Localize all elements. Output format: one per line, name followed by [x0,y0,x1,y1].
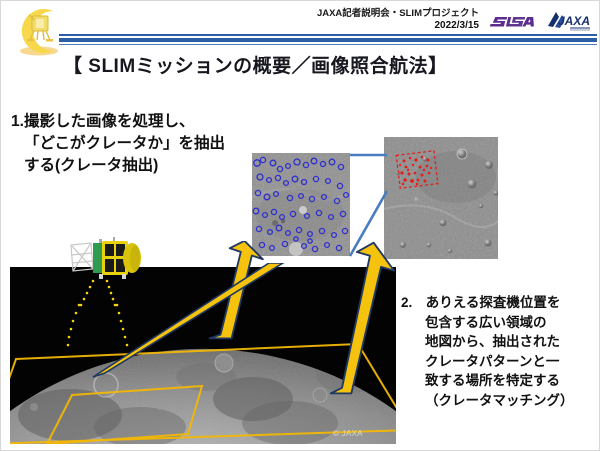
bullet-item-1: 1.撮影した画像を処理し、 「どこがクレータか」を抽出 する(クレータ抽出) [11,111,251,177]
bullet-1-number: 1. [11,113,24,130]
header-rule-middle [59,38,597,42]
slim-lander-illustration [59,237,159,307]
image-credit: © JAXA [333,429,363,438]
bullet-2-line-6: （クレータマッチング） [401,391,600,411]
bullet-2-line-4: クレータパターンと一 [401,352,600,372]
header-date: 2022/3/15 [317,20,479,32]
bullet-1-line-3: する(クレータ抽出) [11,155,251,177]
bullet-1-line-1: 撮影した画像を処理し、 [24,113,195,130]
header-org-line: JAXA記者説明会・SLIMプロジェクト [317,9,479,20]
slide-canvas: JAXA記者説明会・SLIMプロジェクト 2022/3/15 JAXA 【 [0,0,600,451]
isas-logo [488,14,538,30]
bullet-2-line-5: 致する場所を特定する [401,371,600,391]
slim-crescent-moon-logo [9,5,69,57]
bullet-2-line-1: ありえる探査機位置を [426,295,561,310]
bullet-item-2: 2. ありえる探査機位置を 包含する広い領域の 地図から、抽出された クレータパ… [401,293,600,410]
header-rule-bottom [59,44,597,45]
page-title: 【 SLIMミッションの概要／画像照合航法】 [63,51,563,81]
arrow-to-crater-detection[interactable] [206,241,266,351]
header-text-block: JAXA記者説明会・SLIMプロジェクト 2022/3/15 [317,9,479,31]
projection-dots [80,280,117,307]
bullet-2-line-3: 地図から、抽出された [401,332,600,352]
bullet-1-line-2: 「どこがクレータか」を抽出 [11,133,251,155]
jaxa-logo: JAXA [546,10,594,34]
bullet-2-line-2: 包含する広い領域の [401,313,600,333]
header-rule-top [59,34,597,36]
arrow-to-wide-map[interactable] [329,241,409,411]
svg-text:JAXA: JAXA [558,14,590,28]
